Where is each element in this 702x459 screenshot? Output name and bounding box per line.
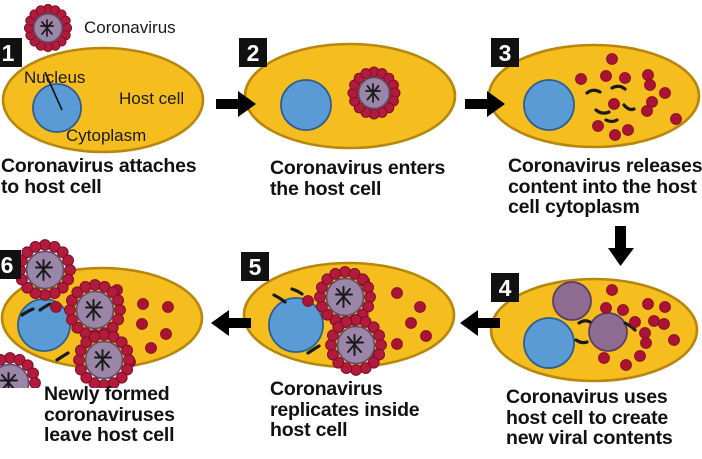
step-3-caption: Coronavirus releases content into the ho…	[508, 156, 702, 218]
step-3-panel: 3 Coronavirus releases content into the …	[484, 30, 702, 230]
arrow-step3-to-step4	[604, 226, 638, 273]
coronavirus-lifecycle-diagram: 1 Coronavirus Nucleus Host cell Cytoplas…	[0, 0, 702, 459]
arrow-step1-to-step2	[216, 87, 258, 126]
new-virus-particle-inside-lower	[74, 330, 135, 388]
step-4-caption: Coronavirus uses host cell to create new…	[506, 387, 702, 449]
step-2-number-badge: 2	[239, 38, 267, 67]
virus-particle	[24, 4, 71, 51]
host-cell-label: Host cell	[119, 89, 184, 109]
nucleus	[33, 84, 81, 132]
new-viral-core-center	[589, 313, 627, 351]
arrow-right-icon	[216, 87, 258, 121]
new-virus-particle-lower	[326, 315, 387, 376]
step-4-number-badge: 4	[491, 273, 519, 302]
step-6-cell-graphic	[0, 238, 230, 388]
step-5-panel: 5 Coronavirus replicates inside host cel…	[234, 245, 466, 459]
step-4-panel: 4 Coronavirus uses host cell to create n…	[484, 266, 702, 459]
step-5-number-badge: 5	[241, 252, 269, 281]
nucleus-label: Nucleus	[24, 68, 85, 88]
nucleus	[281, 80, 331, 130]
step-5-caption: Coronavirus replicates inside host cell	[270, 379, 470, 441]
arrow-left-icon	[458, 306, 500, 340]
step-2-panel: 2 Coronavirus enters the host cell	[234, 30, 466, 230]
step-3-number-badge: 3	[491, 38, 519, 67]
step-6-number-badge: 6	[0, 250, 21, 279]
virus-particle	[348, 67, 400, 119]
coronavirus-label: Coronavirus	[84, 18, 176, 38]
escaping-virus-particle-top	[15, 240, 76, 301]
step-6-caption: Newly formed coronaviruses leave host ce…	[44, 384, 234, 446]
new-viral-core-upper	[553, 282, 591, 320]
arrow-step2-to-step3	[465, 87, 507, 126]
arrow-left-icon	[209, 306, 251, 340]
step-1-panel: 1 Coronavirus Nucleus Host cell Cytoplas…	[0, 0, 230, 230]
step-2-cell-graphic	[234, 30, 466, 162]
arrow-step4-to-step5	[458, 306, 500, 345]
step-6-panel: 6 Newly formed coronaviruses leave host …	[0, 238, 230, 459]
step-1-caption: Coronavirus attaches to host cell	[1, 156, 229, 197]
escaping-virus-particle-bottom	[0, 353, 40, 388]
arrow-down-icon	[604, 226, 638, 268]
nucleus	[524, 318, 574, 368]
step-2-caption: Coronavirus enters the host cell	[270, 158, 470, 199]
nucleus	[524, 80, 574, 130]
arrow-right-icon	[465, 87, 507, 121]
arrow-step5-to-step6	[209, 306, 251, 345]
cytoplasm-label: Cytoplasm	[66, 126, 146, 146]
step-1-number-badge: 1	[0, 38, 22, 67]
nucleus	[269, 298, 323, 352]
